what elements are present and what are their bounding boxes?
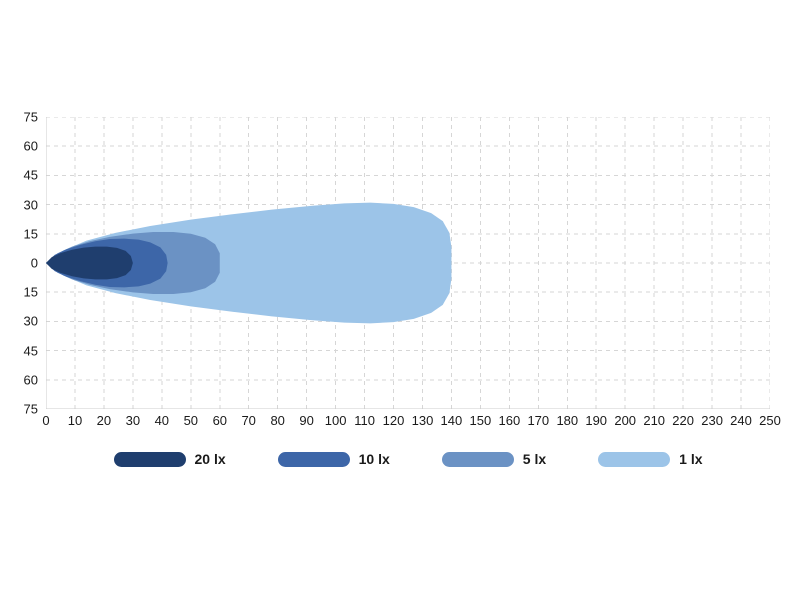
y-axis-tick-labels: 756045301501530456075: [0, 117, 38, 409]
y-tick-label: 30: [24, 198, 38, 211]
x-tick-label: 60: [213, 414, 227, 427]
x-tick-label: 70: [241, 414, 255, 427]
y-tick-label: 60: [24, 140, 38, 153]
x-tick-label: 0: [42, 414, 49, 427]
x-tick-label: 230: [701, 414, 723, 427]
x-tick-label: 200: [614, 414, 636, 427]
x-tick-label: 140: [441, 414, 463, 427]
chart-legend: 20 lx10 lx5 lx1 lx: [46, 446, 770, 472]
legend-label: 1 lx: [679, 451, 702, 467]
x-tick-label: 100: [325, 414, 347, 427]
y-tick-label: 0: [31, 257, 38, 270]
x-tick-label: 190: [585, 414, 607, 427]
y-tick-label: 60: [24, 373, 38, 386]
x-tick-label: 210: [643, 414, 665, 427]
legend-item-10-lx[interactable]: 10 lx: [278, 451, 390, 467]
x-tick-label: 30: [126, 414, 140, 427]
beam-pattern-chart: 756045301501530456075 010203040506070809…: [0, 0, 800, 600]
legend-swatch: [598, 452, 670, 467]
y-tick-label: 45: [24, 344, 38, 357]
legend-label: 5 lx: [523, 451, 546, 467]
x-tick-label: 160: [499, 414, 521, 427]
legend-item-20-lx[interactable]: 20 lx: [114, 451, 226, 467]
x-tick-label: 250: [759, 414, 781, 427]
x-tick-label: 40: [155, 414, 169, 427]
x-tick-label: 220: [672, 414, 694, 427]
y-tick-label: 30: [24, 315, 38, 328]
legend-swatch: [278, 452, 350, 467]
x-tick-label: 110: [354, 414, 375, 427]
y-tick-label: 15: [24, 227, 38, 240]
x-axis-tick-labels: 0102030405060708090100110120130140150160…: [46, 414, 770, 434]
legend-item-5-lx[interactable]: 5 lx: [442, 451, 546, 467]
x-tick-label: 20: [97, 414, 111, 427]
x-tick-label: 80: [270, 414, 284, 427]
legend-label: 10 lx: [359, 451, 390, 467]
plot-area: [46, 117, 770, 409]
x-tick-label: 170: [527, 414, 549, 427]
x-tick-label: 10: [68, 414, 82, 427]
x-tick-label: 150: [470, 414, 492, 427]
x-tick-label: 120: [383, 414, 405, 427]
legend-swatch: [114, 452, 186, 467]
legend-swatch: [442, 452, 514, 467]
y-tick-label: 75: [24, 111, 38, 124]
y-tick-label: 15: [24, 286, 38, 299]
x-tick-label: 50: [184, 414, 198, 427]
grid-lines: [46, 117, 770, 409]
legend-label: 20 lx: [195, 451, 226, 467]
x-tick-label: 130: [412, 414, 434, 427]
legend-item-1-lx[interactable]: 1 lx: [598, 451, 702, 467]
x-tick-label: 180: [556, 414, 578, 427]
x-tick-label: 90: [299, 414, 313, 427]
y-tick-label: 75: [24, 403, 38, 416]
x-tick-label: 240: [730, 414, 752, 427]
y-tick-label: 45: [24, 169, 38, 182]
